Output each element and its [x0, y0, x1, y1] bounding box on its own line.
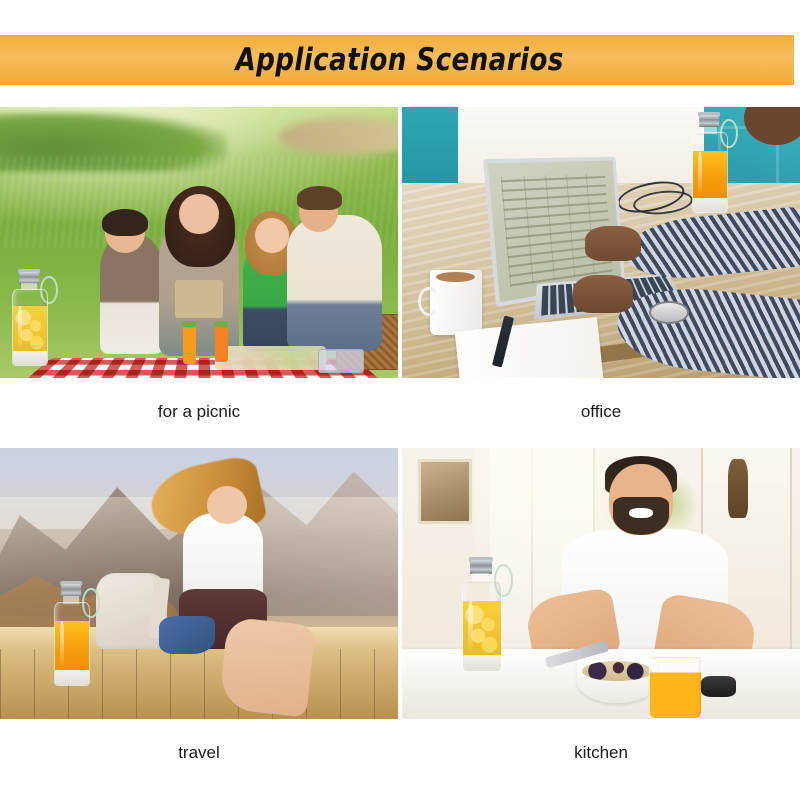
person-hand-left: [573, 275, 633, 313]
person-legs: [218, 617, 315, 718]
scenario-card-travel[interactable]: travel: [0, 448, 398, 773]
coffee-surface: [436, 272, 475, 282]
bottle-base: [55, 670, 89, 685]
bottle-highlight: [60, 621, 64, 672]
page-header-banner: Application Scenarios: [0, 35, 800, 85]
juice-bottle-small: [215, 321, 228, 362]
person-father-hair: [297, 186, 343, 210]
scenario-grid: for a picnic: [0, 107, 800, 747]
scenario-photo-kitchen: [402, 448, 800, 719]
coffee-mug: [430, 270, 482, 335]
wristwatch: [701, 676, 737, 698]
folded-clothing: [159, 616, 215, 654]
cereal-with-berries: [582, 661, 652, 681]
food-container: [318, 349, 364, 373]
person-boy-body: [100, 234, 164, 353]
page-title: Application Scenarios: [236, 42, 564, 78]
bottle-base: [463, 655, 501, 671]
scenario-caption-office: office: [402, 378, 800, 432]
person-boy-hair: [102, 209, 148, 236]
background-path: [279, 118, 398, 156]
scenario-card-picnic[interactable]: for a picnic: [0, 107, 398, 432]
product-blender-bottle: [54, 584, 88, 684]
scenario-photo-picnic: [0, 107, 398, 378]
bottle-base: [693, 198, 727, 212]
wristwatch: [649, 301, 689, 324]
scenario-photo-office: [402, 107, 800, 378]
scenario-caption-travel: travel: [0, 719, 398, 773]
cereal-bowl: [577, 659, 657, 702]
orange-juice-glass: [649, 657, 703, 719]
person-father-body: [287, 215, 383, 351]
bottle-body: [54, 602, 90, 686]
person-hand-right: [585, 226, 641, 261]
person-girl-head: [255, 218, 289, 253]
bottle-highlight: [468, 601, 473, 657]
bottle-body: [462, 580, 502, 672]
mug-handle: [418, 287, 440, 316]
bottle-body: [692, 132, 728, 213]
bottle-highlight: [698, 151, 702, 200]
person-mother-head: [179, 194, 219, 235]
picnic-food-spread: [215, 346, 326, 370]
decorative-vase: [728, 459, 748, 519]
product-blender-bottle: [692, 115, 726, 211]
juice-bottle-small: [183, 321, 196, 364]
bottle-highlight: [18, 306, 22, 353]
bottle-base: [13, 351, 47, 365]
paper-bag: [175, 280, 223, 318]
product-blender-bottle: [462, 560, 500, 670]
scenario-caption-picnic: for a picnic: [0, 378, 398, 432]
product-blender-bottle: [12, 272, 46, 364]
person-smile: [629, 508, 653, 519]
bottle-cap: [470, 560, 492, 574]
wall-picture-frame: [418, 459, 472, 525]
scenario-card-kitchen[interactable]: kitchen: [402, 448, 800, 773]
person-head: [207, 486, 247, 524]
scenario-caption-kitchen: kitchen: [402, 719, 800, 773]
scenario-card-office[interactable]: office: [402, 107, 800, 432]
bottle-body: [12, 289, 48, 366]
scenario-photo-travel: [0, 448, 398, 719]
